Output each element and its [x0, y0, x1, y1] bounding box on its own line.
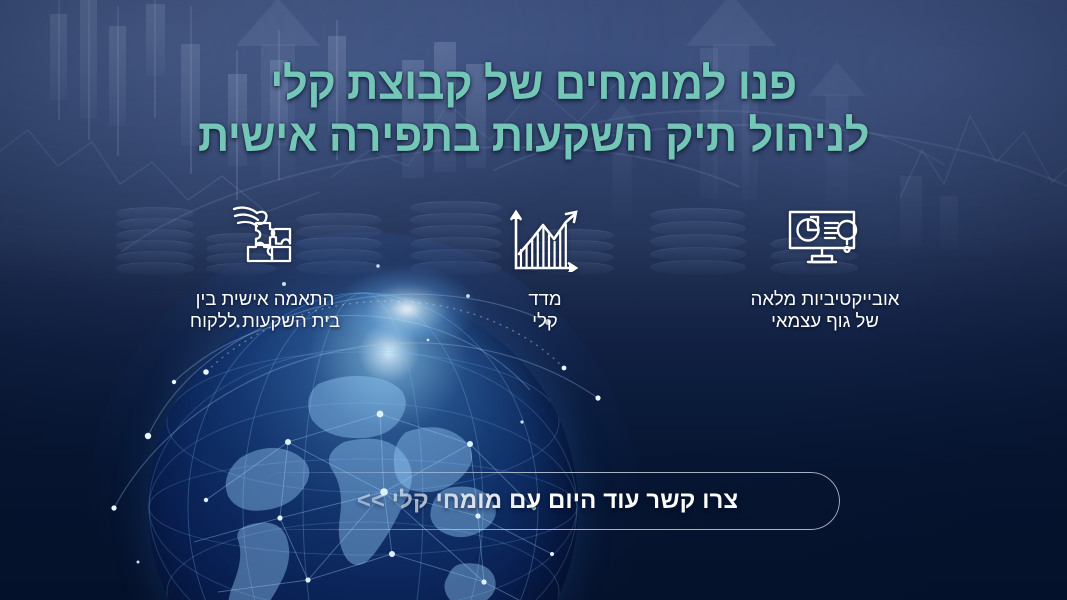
- feature-label-line-1: מדד: [430, 288, 660, 310]
- contact-cta-button[interactable]: צרו קשר עוד היום עם מומחי קלי >>: [255, 472, 840, 530]
- feature-label-line-2: של גוף עצמאי: [710, 310, 940, 332]
- headline-line-2: לניהול תיק השקעות בתפירה אישית: [16, 110, 1051, 162]
- feature-label-line-2: בית השקעות ללקוח: [150, 310, 380, 332]
- feature-label-index: מדד קלי: [430, 288, 660, 332]
- feature-label-personalization: התאמה אישית בין בית השקעות ללקוח: [150, 288, 380, 332]
- feature-label-line-1: התאמה אישית בין: [150, 288, 380, 310]
- feature-item-objectivity: אובייקטיביות מלאה של גוף עצמאי: [710, 198, 940, 332]
- bar-chart-growth-icon: [430, 198, 660, 280]
- page-title: פנו למומחים של קבוצת קלי לניהול תיק השקע…: [16, 58, 1051, 162]
- feature-list: התאמה אישית בין בית השקעות ללקוח: [150, 198, 940, 332]
- monitor-analytics-icon: [710, 198, 940, 280]
- contact-cta-label: צרו קשר עוד היום עם מומחי קלי >>: [357, 487, 738, 515]
- feature-label-line-1: אובייקטיביות מלאה: [710, 288, 940, 310]
- feature-label-line-2: קלי: [430, 310, 660, 332]
- headline-line-1: פנו למומחים של קבוצת קלי: [16, 58, 1051, 110]
- feature-label-objectivity: אובייקטיביות מלאה של גוף עצמאי: [710, 288, 940, 332]
- digital-globe-graphic: [148, 292, 578, 600]
- promotional-banner: פנו למומחים של קבוצת קלי לניהול תיק השקע…: [0, 0, 1067, 600]
- puzzle-hand-icon: [150, 198, 380, 280]
- feature-item-index: מדד קלי: [430, 198, 660, 332]
- feature-item-personalization: התאמה אישית בין בית השקעות ללקוח: [150, 198, 380, 332]
